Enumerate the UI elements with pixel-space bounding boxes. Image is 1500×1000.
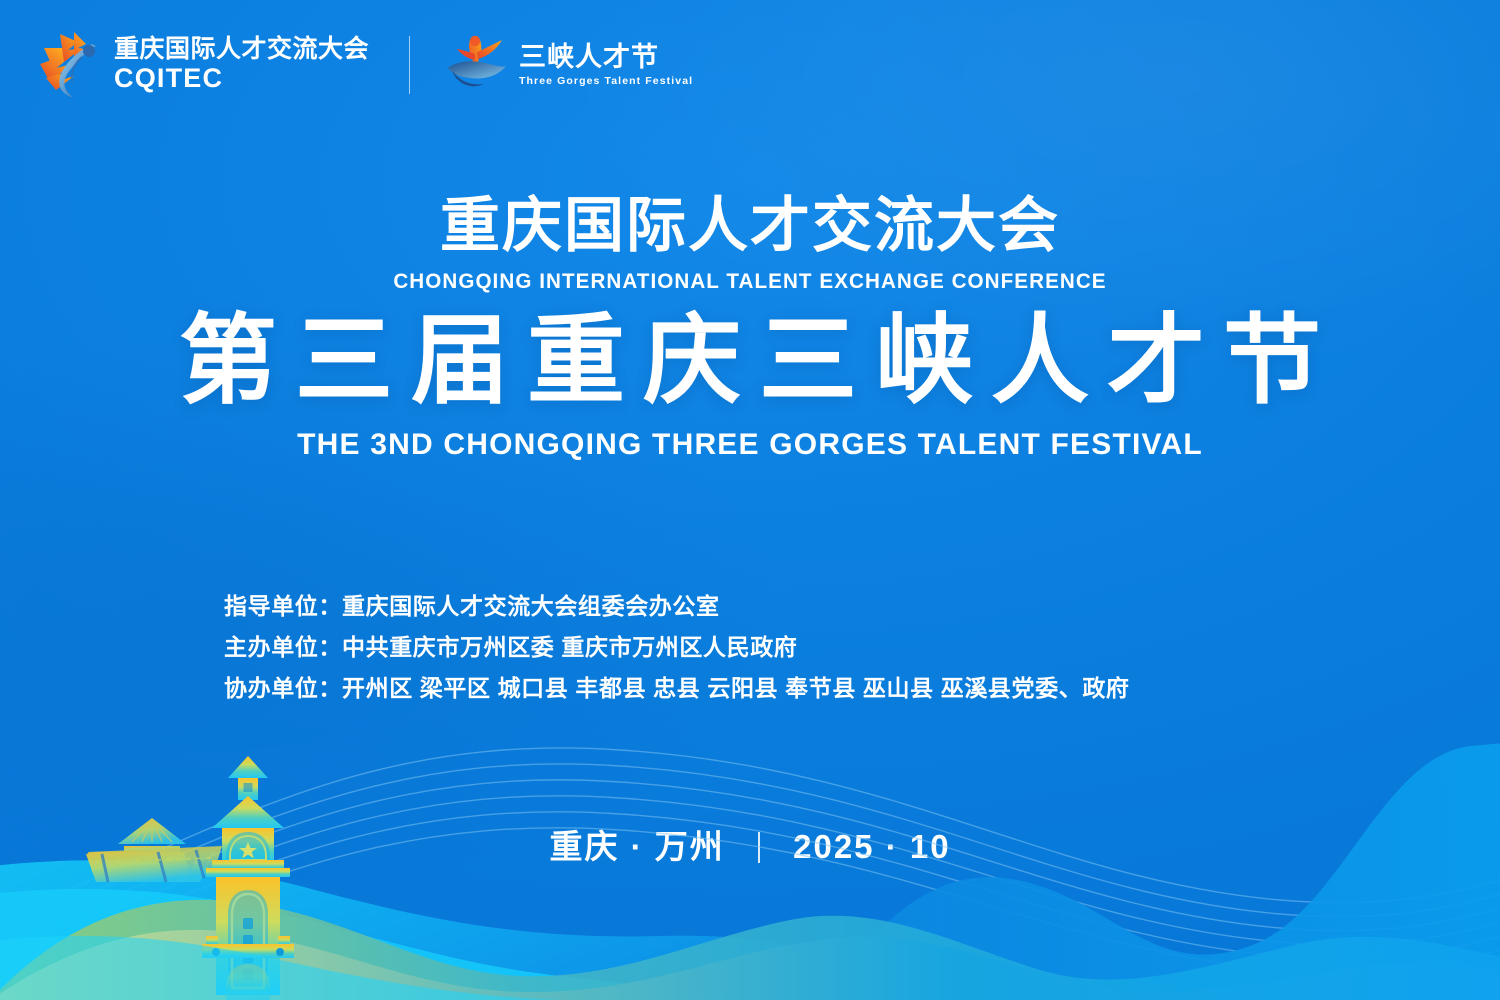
logo-cqitec-text: 重庆国际人才交流大会 CQITEC <box>114 37 369 92</box>
organizer-block: 指导单位：重庆国际人才交流大会组委会办公室 主办单位：中共重庆市万州区委 重庆市… <box>224 586 1130 709</box>
logo-cqitec: 重庆国际人才交流大会 CQITEC <box>34 28 369 102</box>
wave-layer-teal-back <box>0 900 1500 1000</box>
festival-title-en: THE 3ND CHONGQING THREE GORGES TALENT FE… <box>0 428 1500 462</box>
logo-three-gorges: 三峡人才节 Three Gorges Talent Festival <box>444 34 693 96</box>
festival-title-cn: 第三届重庆三峡人才节 <box>18 308 1500 414</box>
organizer-host: 主办单位：中共重庆市万州区委 重庆市万州区人民政府 <box>224 627 1130 668</box>
wanzhou-clock-tower <box>202 756 294 1000</box>
logo-three-gorges-text: 三峡人才节 Three Gorges Talent Festival <box>519 44 693 87</box>
cqitec-starburst-figure-logo <box>34 28 106 102</box>
logo-divider <box>409 36 410 94</box>
three-gorges-talent-figure-logo <box>444 34 510 96</box>
conference-title-en: CHONGQING INTERNATIONAL TALENT EXCHANGE … <box>30 269 1470 294</box>
title-block: 重庆国际人才交流大会 CHONGQING INTERNATIONAL TALEN… <box>0 196 1500 462</box>
logo-three-gorges-cn: 三峡人才节 <box>519 44 693 71</box>
dateline-separator <box>758 832 760 863</box>
conference-title-cn: 重庆国际人才交流大会 <box>0 196 1500 256</box>
dateline-date: 2025 · 10 <box>793 828 950 865</box>
header-logos: 重庆国际人才交流大会 CQITEC <box>34 26 693 104</box>
wave-layer-left-cyan <box>0 860 900 1000</box>
wave-layer-far <box>820 740 1500 1000</box>
wave-layer-teal-front <box>0 930 1500 1000</box>
dateline: 重庆 · 万州 2025 · 10 <box>0 820 1500 868</box>
dateline-place: 重庆 · 万州 <box>549 828 724 865</box>
wave-layer-left-bright <box>0 889 760 1000</box>
logo-three-gorges-en: Three Gorges Talent Festival <box>519 76 693 87</box>
organizer-guide: 指导单位：重庆国际人才交流大会组委会办公室 <box>224 586 1130 627</box>
logo-cqitec-en: CQITEC <box>114 65 369 93</box>
logo-cqitec-cn: 重庆国际人才交流大会 <box>114 37 369 63</box>
wave-layer-water-front <box>0 936 560 1000</box>
poster-canvas: 重庆国际人才交流大会 CQITEC <box>0 0 1500 1000</box>
bottom-scenery <box>0 740 1500 1000</box>
organizer-cohost: 协办单位：开州区 梁平区 城口县 丰都县 忠县 云阳县 奉节县 巫山县 巫溪县党… <box>224 668 1130 709</box>
